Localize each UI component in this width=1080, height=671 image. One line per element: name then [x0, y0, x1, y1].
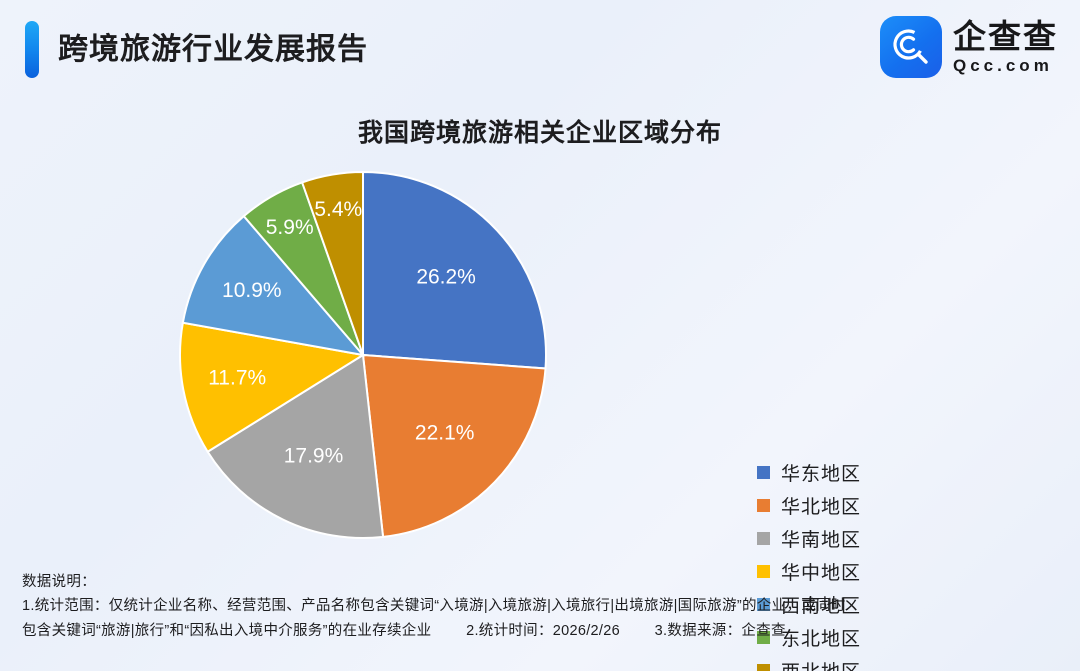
chart-area: 26.2%22.1%17.9%11.7%10.9%5.9%5.4% 华东地区华北…	[0, 170, 1080, 555]
legend-item-label: 华北地区	[781, 492, 861, 519]
page-header: 跨境旅游行业发展报告 企查查 Qcc.com	[0, 0, 1080, 96]
legend-item-label: 西北地区	[781, 657, 861, 671]
pie-slice-label: 22.1%	[415, 421, 475, 444]
brand-name-cn: 企查查	[953, 19, 1058, 55]
chart-title: 我国跨境旅游相关企业区域分布	[0, 113, 1080, 149]
page-title: 跨境旅游行业发展报告	[58, 24, 368, 76]
legend-swatch-icon	[757, 664, 770, 671]
legend-swatch-icon	[757, 532, 770, 545]
footnote-data-source: 3.数据来源：企查查	[655, 623, 786, 639]
pie-slice-group	[180, 172, 546, 538]
legend-item[interactable]: 华东地区	[757, 456, 861, 489]
footnote-line-2: 包含关键词“旅游|旅行”和“因私出入境中介服务”的在业存续企业 2.统计时间：2…	[22, 619, 1062, 644]
pie-slice-label: 11.7%	[208, 367, 266, 390]
pie-slice-label: 17.9%	[284, 445, 344, 468]
brand-name-en: Qcc.com	[953, 56, 1053, 76]
footnote-line-1: 1.统计范围：仅统计企业名称、经营范围、产品名称包含关键词“入境游|入境旅游|入…	[22, 594, 1062, 619]
pie-slice-label: 5.9%	[266, 216, 314, 239]
footnote-stat-time: 2.统计时间：2026/2/26	[466, 623, 620, 639]
pie-chart: 26.2%22.1%17.9%11.7%10.9%5.9%5.4%	[178, 170, 548, 540]
legend-item-label: 华东地区	[781, 459, 861, 486]
footnote: 数据说明： 1.统计范围：仅统计企业名称、经营范围、产品名称包含关键词“入境游|…	[22, 570, 1062, 644]
pie-slice-label: 26.2%	[416, 265, 476, 288]
legend-item[interactable]: 华北地区	[757, 489, 861, 522]
title-accent-bar	[25, 21, 39, 78]
pie-slice-label: 5.4%	[314, 198, 362, 221]
footnote-heading: 数据说明：	[22, 570, 1062, 594]
legend-item[interactable]: 华南地区	[757, 522, 861, 555]
pie-slice-label: 10.9%	[222, 279, 282, 302]
pie-chart-svg: 26.2%22.1%17.9%11.7%10.9%5.9%5.4%	[178, 170, 548, 540]
pie-slice[interactable]	[363, 355, 546, 537]
brand-logo-text: 企查查 Qcc.com	[953, 19, 1058, 76]
brand-logo: 企查查 Qcc.com	[880, 16, 1058, 78]
legend-swatch-icon	[757, 499, 770, 512]
qcc-magnifier-logo-icon	[880, 16, 942, 78]
legend-item[interactable]: 西北地区	[757, 654, 861, 671]
footnote-scope-continued: 包含关键词“旅游|旅行”和“因私出入境中介服务”的在业存续企业	[22, 623, 431, 639]
legend-swatch-icon	[757, 466, 770, 479]
legend-item-label: 华南地区	[781, 525, 861, 552]
